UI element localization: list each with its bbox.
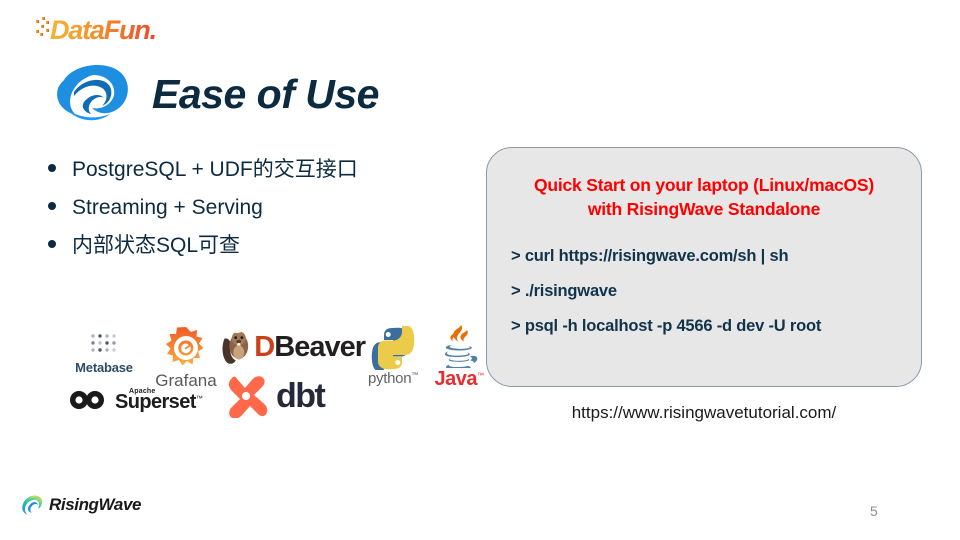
footer-risingwave-label: RisingWave bbox=[49, 495, 141, 515]
command-line: > curl https://risingwave.com/sh | sh bbox=[511, 247, 905, 266]
bullet-dot-icon bbox=[48, 240, 56, 248]
datafun-logo: DataFun. bbox=[36, 12, 186, 46]
tutorial-url[interactable]: https://www.risingwavetutorial.com/ bbox=[486, 403, 922, 423]
superset-label: Superset™ bbox=[115, 392, 202, 412]
slide-canvas: DataFun. Ease of Use PostgreSQL + UDF的交互… bbox=[0, 0, 960, 540]
list-item: Streaming + Serving bbox=[48, 196, 448, 220]
risingwave-wave-icon bbox=[52, 62, 138, 126]
quick-start-heading-line2: with RisingWave Standalone bbox=[503, 198, 905, 222]
java-cup-icon bbox=[437, 324, 481, 368]
python-logo: python™ bbox=[362, 326, 424, 387]
quick-start-command-list: > curl https://risingwave.com/sh | sh > … bbox=[503, 247, 905, 336]
command-line: > ./risingwave bbox=[511, 282, 905, 301]
dbt-label: dbt bbox=[276, 379, 324, 413]
bullet-dot-icon bbox=[48, 202, 56, 210]
feature-bullet-list: PostgreSQL + UDF的交互接口 Streaming + Servin… bbox=[48, 158, 448, 272]
quick-start-heading-line1: Quick Start on your laptop (Linux/macOS) bbox=[503, 174, 905, 198]
java-label: Java™ bbox=[428, 368, 490, 391]
bullet-dot-icon bbox=[48, 164, 56, 172]
java-logo: Java™ bbox=[428, 324, 490, 391]
bullet-label: Streaming + Serving bbox=[72, 196, 263, 220]
grafana-logo: Grafana bbox=[140, 326, 232, 391]
page-title: Ease of Use bbox=[152, 71, 379, 118]
bullet-label: 内部状态SQL可查 bbox=[72, 234, 240, 258]
superset-logo: Apache Superset™ bbox=[68, 388, 210, 412]
quick-start-heading: Quick Start on your laptop (Linux/macOS)… bbox=[503, 174, 905, 221]
python-snake-icon bbox=[371, 326, 415, 370]
metabase-label: Metabase bbox=[64, 360, 144, 375]
dbt-logo: dbt bbox=[224, 374, 364, 418]
footer-risingwave-logo: RisingWave bbox=[22, 494, 141, 516]
python-label: python™ bbox=[362, 370, 424, 387]
svg-text:DataFun.: DataFun. bbox=[50, 15, 156, 45]
superset-infinity-icon bbox=[68, 389, 108, 411]
dbt-mark-icon bbox=[224, 374, 268, 418]
page-number: 5 bbox=[870, 503, 878, 519]
bullet-label: PostgreSQL + UDF的交互接口 bbox=[72, 158, 358, 182]
list-item: 内部状态SQL可查 bbox=[48, 234, 448, 258]
quick-start-panel: Quick Start on your laptop (Linux/macOS)… bbox=[486, 147, 922, 387]
risingwave-footer-icon bbox=[22, 494, 44, 516]
list-item: PostgreSQL + UDF的交互接口 bbox=[48, 158, 448, 182]
dbeaver-logo: DBeaver bbox=[220, 324, 365, 370]
metabase-logo: Metabase bbox=[64, 332, 144, 375]
command-line: > psql -h localhost -p 4566 -d dev -U ro… bbox=[511, 317, 905, 336]
dbeaver-label: DBeaver bbox=[254, 333, 365, 362]
dbeaver-beaver-icon bbox=[220, 324, 251, 370]
page-title-block: Ease of Use bbox=[52, 62, 379, 126]
integration-logo-wall: Metabase Grafana bbox=[62, 322, 482, 430]
